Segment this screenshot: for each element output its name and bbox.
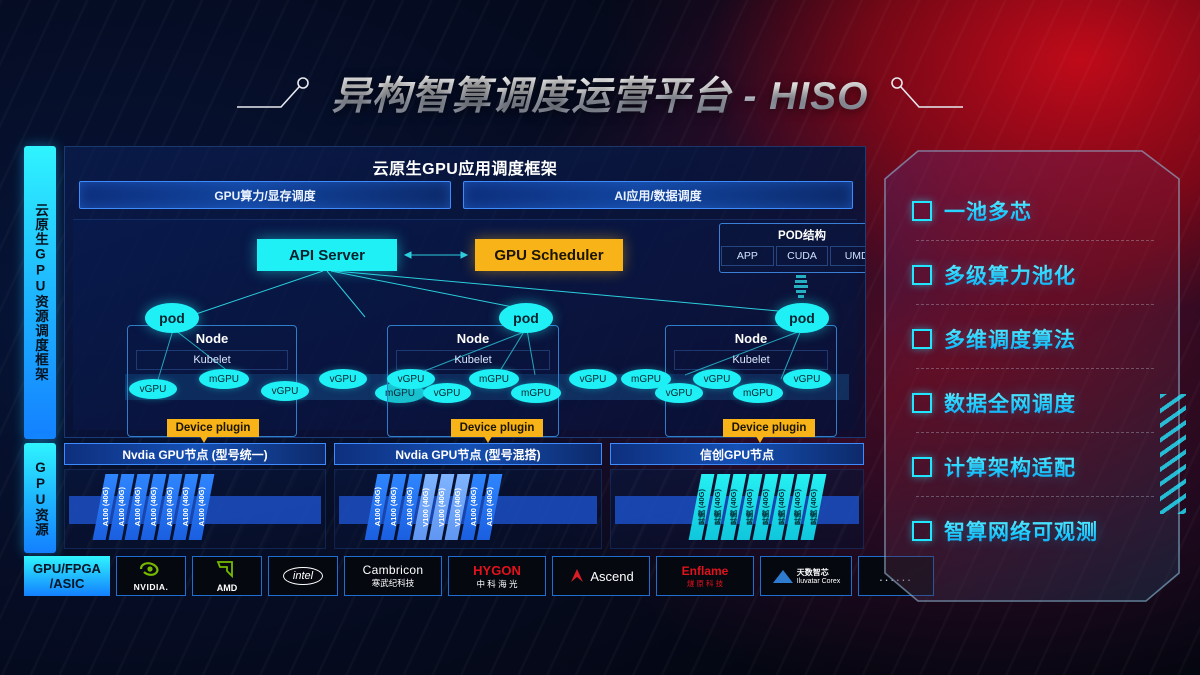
architecture-diagram: 云原生GPU资源调度框架 GPU资源 云原生GPU应用调度框架 GPU算力/显存… bbox=[24, 146, 864, 598]
feature-item-2[interactable]: 多级算力池化 bbox=[912, 252, 1158, 298]
vendor-ascend: Ascend bbox=[552, 556, 650, 596]
gpu-node-1-cards: A100 (40G)A100 (40G)A100 (40G)A100 (40G)… bbox=[99, 474, 208, 544]
gpu-node-2-cards: A100 (40G)A100 (40G)A100 (40G)V100 (40G)… bbox=[371, 474, 496, 544]
node-2-bubble-3[interactable]: mGPU bbox=[511, 383, 561, 403]
gpu-card-label: 昇腾 (40G) bbox=[808, 489, 819, 525]
pod-cell-umd: UMD bbox=[830, 246, 866, 266]
feature-label: 一池多芯 bbox=[944, 196, 1032, 226]
gpu-card-label: 昇腾 (40G) bbox=[776, 489, 787, 525]
gpu-card-label: A100 (40G) bbox=[469, 487, 478, 526]
checkbox-icon bbox=[912, 521, 932, 541]
amd-wordmark: AMD bbox=[216, 583, 238, 593]
nvidia-wordmark: NVIDIA. bbox=[134, 582, 169, 592]
sidebar-label-framework: 云原生GPU资源调度框架 bbox=[24, 146, 56, 439]
gpu-node-1-title: Nvdia GPU节点 (型号统一) bbox=[64, 443, 326, 465]
feature-label: 多级算力池化 bbox=[944, 260, 1076, 290]
amd-arrow-icon bbox=[216, 560, 238, 578]
gpu-card-label: A100 (40G) bbox=[133, 487, 142, 526]
api-server-box[interactable]: API Server bbox=[257, 239, 397, 271]
subbar-gpu-compute[interactable]: GPU算力/显存调度 bbox=[79, 181, 451, 209]
node-1-bubble-0[interactable]: vGPU bbox=[129, 379, 177, 399]
iluvatar-cn: 天数智芯 bbox=[797, 567, 841, 578]
node-3-kubelet: Kubelet bbox=[674, 350, 828, 370]
feature-label: 数据全网调度 bbox=[944, 388, 1076, 418]
node-3-title: Node bbox=[666, 331, 836, 346]
title-right-decoration bbox=[883, 73, 963, 113]
pod-structure-box: POD结构 APP CUDA UMD bbox=[719, 223, 866, 273]
node-3-bubble-3[interactable]: mGPU bbox=[733, 383, 783, 403]
gpu-node-3-body: 昇腾 (40G)昇腾 (40G)昇腾 (40G)昇腾 (40G)昇腾 (40G)… bbox=[610, 469, 864, 549]
vendor-hygon: HYGON中 科 海 光 bbox=[448, 556, 546, 596]
node-3-bubble-1[interactable]: vGPU bbox=[655, 383, 703, 403]
gpu-card-label: 昇腾 (40G) bbox=[696, 489, 707, 525]
pod-structure-title: POD结构 bbox=[720, 227, 866, 243]
gpu-card-label: A100 (40G) bbox=[405, 487, 414, 526]
node-3-bubble-2[interactable]: vGPU bbox=[693, 369, 741, 389]
intel-wordmark: intel bbox=[283, 567, 323, 585]
gpu-card-label: 昇腾 (40G) bbox=[792, 489, 803, 525]
pod-cell-app: APP bbox=[721, 246, 774, 266]
gpu-card-label: V100 (40G) bbox=[421, 488, 430, 527]
node-1-kubelet: Kubelet bbox=[136, 350, 288, 370]
gpu-node-group-2: Nvdia GPU节点 (型号混搭) A100 (40G)A100 (40G)A… bbox=[334, 443, 602, 553]
vendor-amd: AMD bbox=[192, 556, 262, 596]
node-2-kubelet: Kubelet bbox=[396, 350, 550, 370]
gpu-node-2-title: Nvdia GPU节点 (型号混搭) bbox=[334, 443, 602, 465]
gpu-node-group-3: 信创GPU节点 昇腾 (40G)昇腾 (40G)昇腾 (40G)昇腾 (40G)… bbox=[610, 443, 864, 553]
feature-separator bbox=[916, 368, 1154, 369]
gpu-card-label: V100 (40G) bbox=[437, 488, 446, 527]
vendor-logo-bar: GPU/FPGA/ASICNVIDIA.AMDintelCambricon寒武纪… bbox=[24, 556, 864, 596]
title-bar: 异构智算调度运营平台 - HISO bbox=[0, 62, 1200, 124]
vendor-label-line1: GPU/FPGA bbox=[33, 561, 101, 576]
gpu-card-label: 昇腾 (40G) bbox=[728, 489, 739, 525]
gpu-card-label: A100 (40G) bbox=[389, 487, 398, 526]
gpu-card-label: A100 (40G) bbox=[117, 487, 126, 526]
title-left-decoration bbox=[237, 73, 317, 113]
checkbox-icon bbox=[912, 457, 932, 477]
node-2-bubble-2[interactable]: vGPU bbox=[423, 383, 471, 403]
vendor-iluvatar: 天数智芯Iluvatar Corex bbox=[760, 556, 852, 596]
node-2-bubble-4[interactable]: vGPU bbox=[569, 369, 617, 389]
feature-separator bbox=[916, 432, 1154, 433]
gpu-card-label: A100 (40G) bbox=[373, 487, 382, 526]
feature-item-4[interactable]: 数据全网调度 bbox=[912, 380, 1158, 426]
feature-label: 多维调度算法 bbox=[944, 324, 1076, 354]
gpu-card-label: A100 (40G) bbox=[485, 487, 494, 526]
node-2-title: Node bbox=[388, 331, 558, 346]
gpu-card-label: A100 (40G) bbox=[149, 487, 158, 526]
gpu-scheduler-box[interactable]: GPU Scheduler bbox=[475, 239, 623, 271]
node-1-bubble-1[interactable]: mGPU bbox=[199, 369, 249, 389]
subbar-ai-data[interactable]: AI应用/数据调度 bbox=[463, 181, 853, 209]
feature-separator bbox=[916, 240, 1154, 241]
vendor-cambricon: Cambricon寒武纪科技 bbox=[344, 556, 442, 596]
feature-item-1[interactable]: 一池多芯 bbox=[912, 188, 1158, 234]
gpu-node-group-1: Nvdia GPU节点 (型号统一) A100 (40G)A100 (40G)A… bbox=[64, 443, 326, 553]
feature-list: 一池多芯多级算力池化多维调度算法数据全网调度计算架构适配智算网络可观测 bbox=[884, 150, 1180, 602]
page-title: 异构智算调度运营平台 - HISO bbox=[331, 65, 868, 121]
gpu-card-label: V100 (40G) bbox=[453, 488, 462, 527]
feature-item-5[interactable]: 计算架构适配 bbox=[912, 444, 1158, 490]
gpu-node-3-cards: 昇腾 (40G)昇腾 (40G)昇腾 (40G)昇腾 (40G)昇腾 (40G)… bbox=[695, 474, 820, 544]
checkbox-icon bbox=[912, 265, 932, 285]
gpu-card-label: 昇腾 (40G) bbox=[760, 489, 771, 525]
sidebar-label-gpu-resource: GPU资源 bbox=[24, 443, 56, 553]
gpu-node-1-body: A100 (40G)A100 (40G)A100 (40G)A100 (40G)… bbox=[64, 469, 326, 549]
ascend-wordmark: Ascend bbox=[590, 569, 633, 584]
vendor-label-line2: /ASIC bbox=[33, 576, 101, 591]
gpu-card-label: 昇腾 (40G) bbox=[712, 489, 723, 525]
feature-separator bbox=[916, 304, 1154, 305]
feature-label: 计算架构适配 bbox=[944, 452, 1076, 482]
vendor-intel: intel bbox=[268, 556, 338, 596]
checkbox-icon bbox=[912, 201, 932, 221]
node-1-bubble-3[interactable]: vGPU bbox=[319, 369, 367, 389]
feature-label: 智算网络可观测 bbox=[944, 516, 1098, 546]
vendor-label: GPU/FPGA/ASIC bbox=[24, 556, 110, 596]
gpu-card-label: 昇腾 (40G) bbox=[744, 489, 755, 525]
gpu-card-label: A100 (40G) bbox=[197, 487, 206, 526]
cambricon-wordmark: Cambricon bbox=[363, 563, 424, 577]
feature-item-6[interactable]: 智算网络可观测 bbox=[912, 508, 1158, 554]
feature-separator bbox=[916, 496, 1154, 497]
nvidia-eye-icon bbox=[138, 561, 164, 577]
gpu-card-label: A100 (40G) bbox=[101, 487, 110, 526]
hygon-wordmark: HYGON bbox=[473, 563, 521, 578]
gpu-card-label: A100 (40G) bbox=[181, 487, 190, 526]
cambricon-cn: 寒武纪科技 bbox=[363, 577, 424, 589]
iluvatar-wordmark: Iluvatar Corex bbox=[797, 578, 841, 585]
gpu-node-3-title: 信创GPU节点 bbox=[610, 443, 864, 465]
pod-cell-cuda: CUDA bbox=[776, 246, 829, 266]
node-2-bubble-1[interactable]: mGPU bbox=[469, 369, 519, 389]
vendor-nvidia: NVIDIA. bbox=[116, 556, 186, 596]
checkbox-icon bbox=[912, 393, 932, 413]
node-1-title: Node bbox=[128, 331, 296, 346]
node-1-bubble-2[interactable]: vGPU bbox=[261, 381, 309, 401]
enflame-cn: 燧 原 科 技 bbox=[682, 578, 729, 589]
vendor-enflame: Enflame燧 原 科 技 bbox=[656, 556, 754, 596]
cloud-native-panel: 云原生GPU应用调度框架 GPU算力/显存调度 AI应用/数据调度 bbox=[64, 146, 866, 438]
gpu-resource-row: Nvdia GPU节点 (型号统一) A100 (40G)A100 (40G)A… bbox=[64, 443, 864, 553]
pod-2[interactable]: pod bbox=[499, 303, 553, 333]
enflame-wordmark: Enflame bbox=[682, 564, 729, 578]
gpu-card-label: A100 (40G) bbox=[165, 487, 174, 526]
pod-3[interactable]: pod bbox=[775, 303, 829, 333]
cloud-native-heading: 云原生GPU应用调度框架 bbox=[65, 155, 865, 179]
slide-canvas: 异构智算调度运营平台 - HISO 云原生GPU资源调度框架 GPU资源 云原生… bbox=[0, 0, 1200, 675]
hygon-cn: 中 科 海 光 bbox=[473, 578, 521, 590]
ascend-mark-icon bbox=[568, 567, 586, 585]
node-3-bubble-4[interactable]: vGPU bbox=[783, 369, 831, 389]
pod-1[interactable]: pod bbox=[145, 303, 199, 333]
feature-item-3[interactable]: 多维调度算法 bbox=[912, 316, 1158, 362]
checkbox-icon bbox=[912, 329, 932, 349]
iluvatar-mountain-icon bbox=[772, 568, 794, 584]
gpu-node-2-body: A100 (40G)A100 (40G)A100 (40G)V100 (40G)… bbox=[334, 469, 602, 549]
